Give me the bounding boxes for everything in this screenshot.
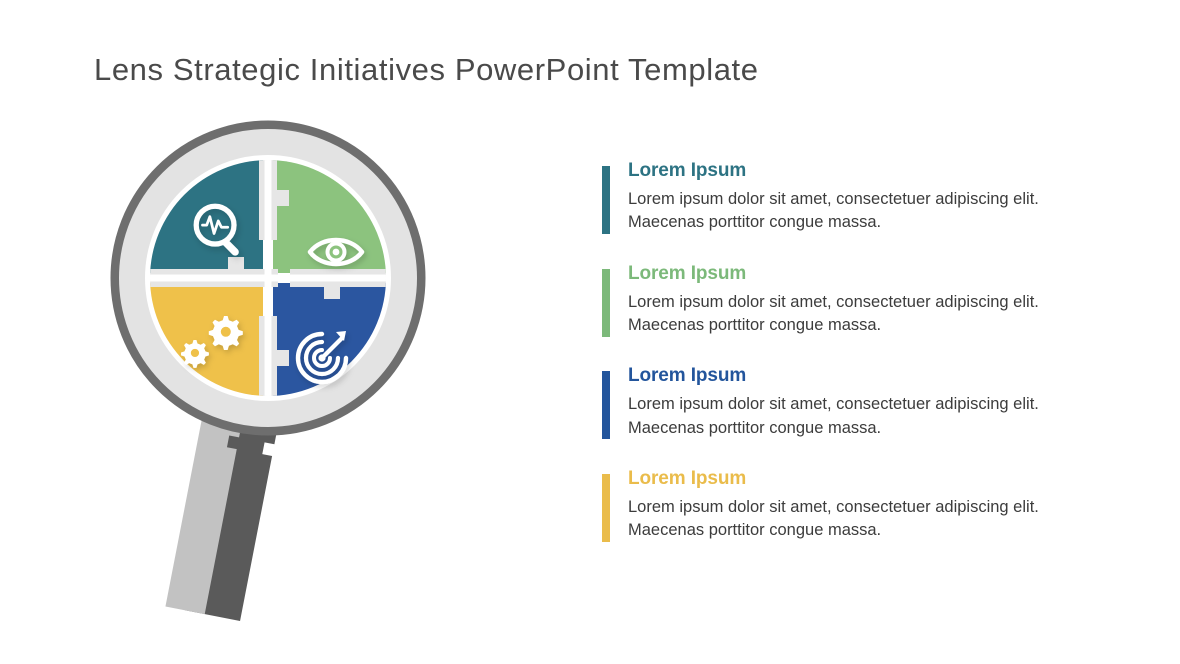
accent-bar	[602, 371, 610, 439]
point-body: Lorem ipsum dolor sit amet, consectetuer…	[628, 393, 1053, 440]
list-item[interactable]: Lorem Ipsum Lorem ipsum dolor sit amet, …	[602, 365, 1072, 440]
quadrant-divider-horizontal	[144, 275, 394, 282]
accent-bar	[602, 166, 610, 234]
point-heading: Lorem Ipsum	[628, 468, 1072, 490]
points-list: Lorem Ipsum Lorem ipsum dolor sit amet, …	[602, 160, 1072, 543]
magnifier-graphic	[100, 110, 460, 640]
list-item[interactable]: Lorem Ipsum Lorem ipsum dolor sit amet, …	[602, 263, 1072, 338]
list-item[interactable]: Lorem Ipsum Lorem ipsum dolor sit amet, …	[602, 468, 1072, 543]
point-heading: Lorem Ipsum	[628, 160, 1072, 182]
accent-bar	[602, 269, 610, 337]
accent-bar	[602, 474, 610, 542]
point-body: Lorem ipsum dolor sit amet, consectetuer…	[628, 496, 1053, 543]
point-body: Lorem ipsum dolor sit amet, consectetuer…	[628, 291, 1053, 338]
point-body: Lorem ipsum dolor sit amet, consectetuer…	[628, 188, 1053, 235]
point-heading: Lorem Ipsum	[628, 365, 1072, 387]
point-heading: Lorem Ipsum	[628, 263, 1072, 285]
list-item[interactable]: Lorem Ipsum Lorem ipsum dolor sit amet, …	[602, 160, 1072, 235]
page-title: Lens Strategic Initiatives PowerPoint Te…	[94, 52, 759, 88]
